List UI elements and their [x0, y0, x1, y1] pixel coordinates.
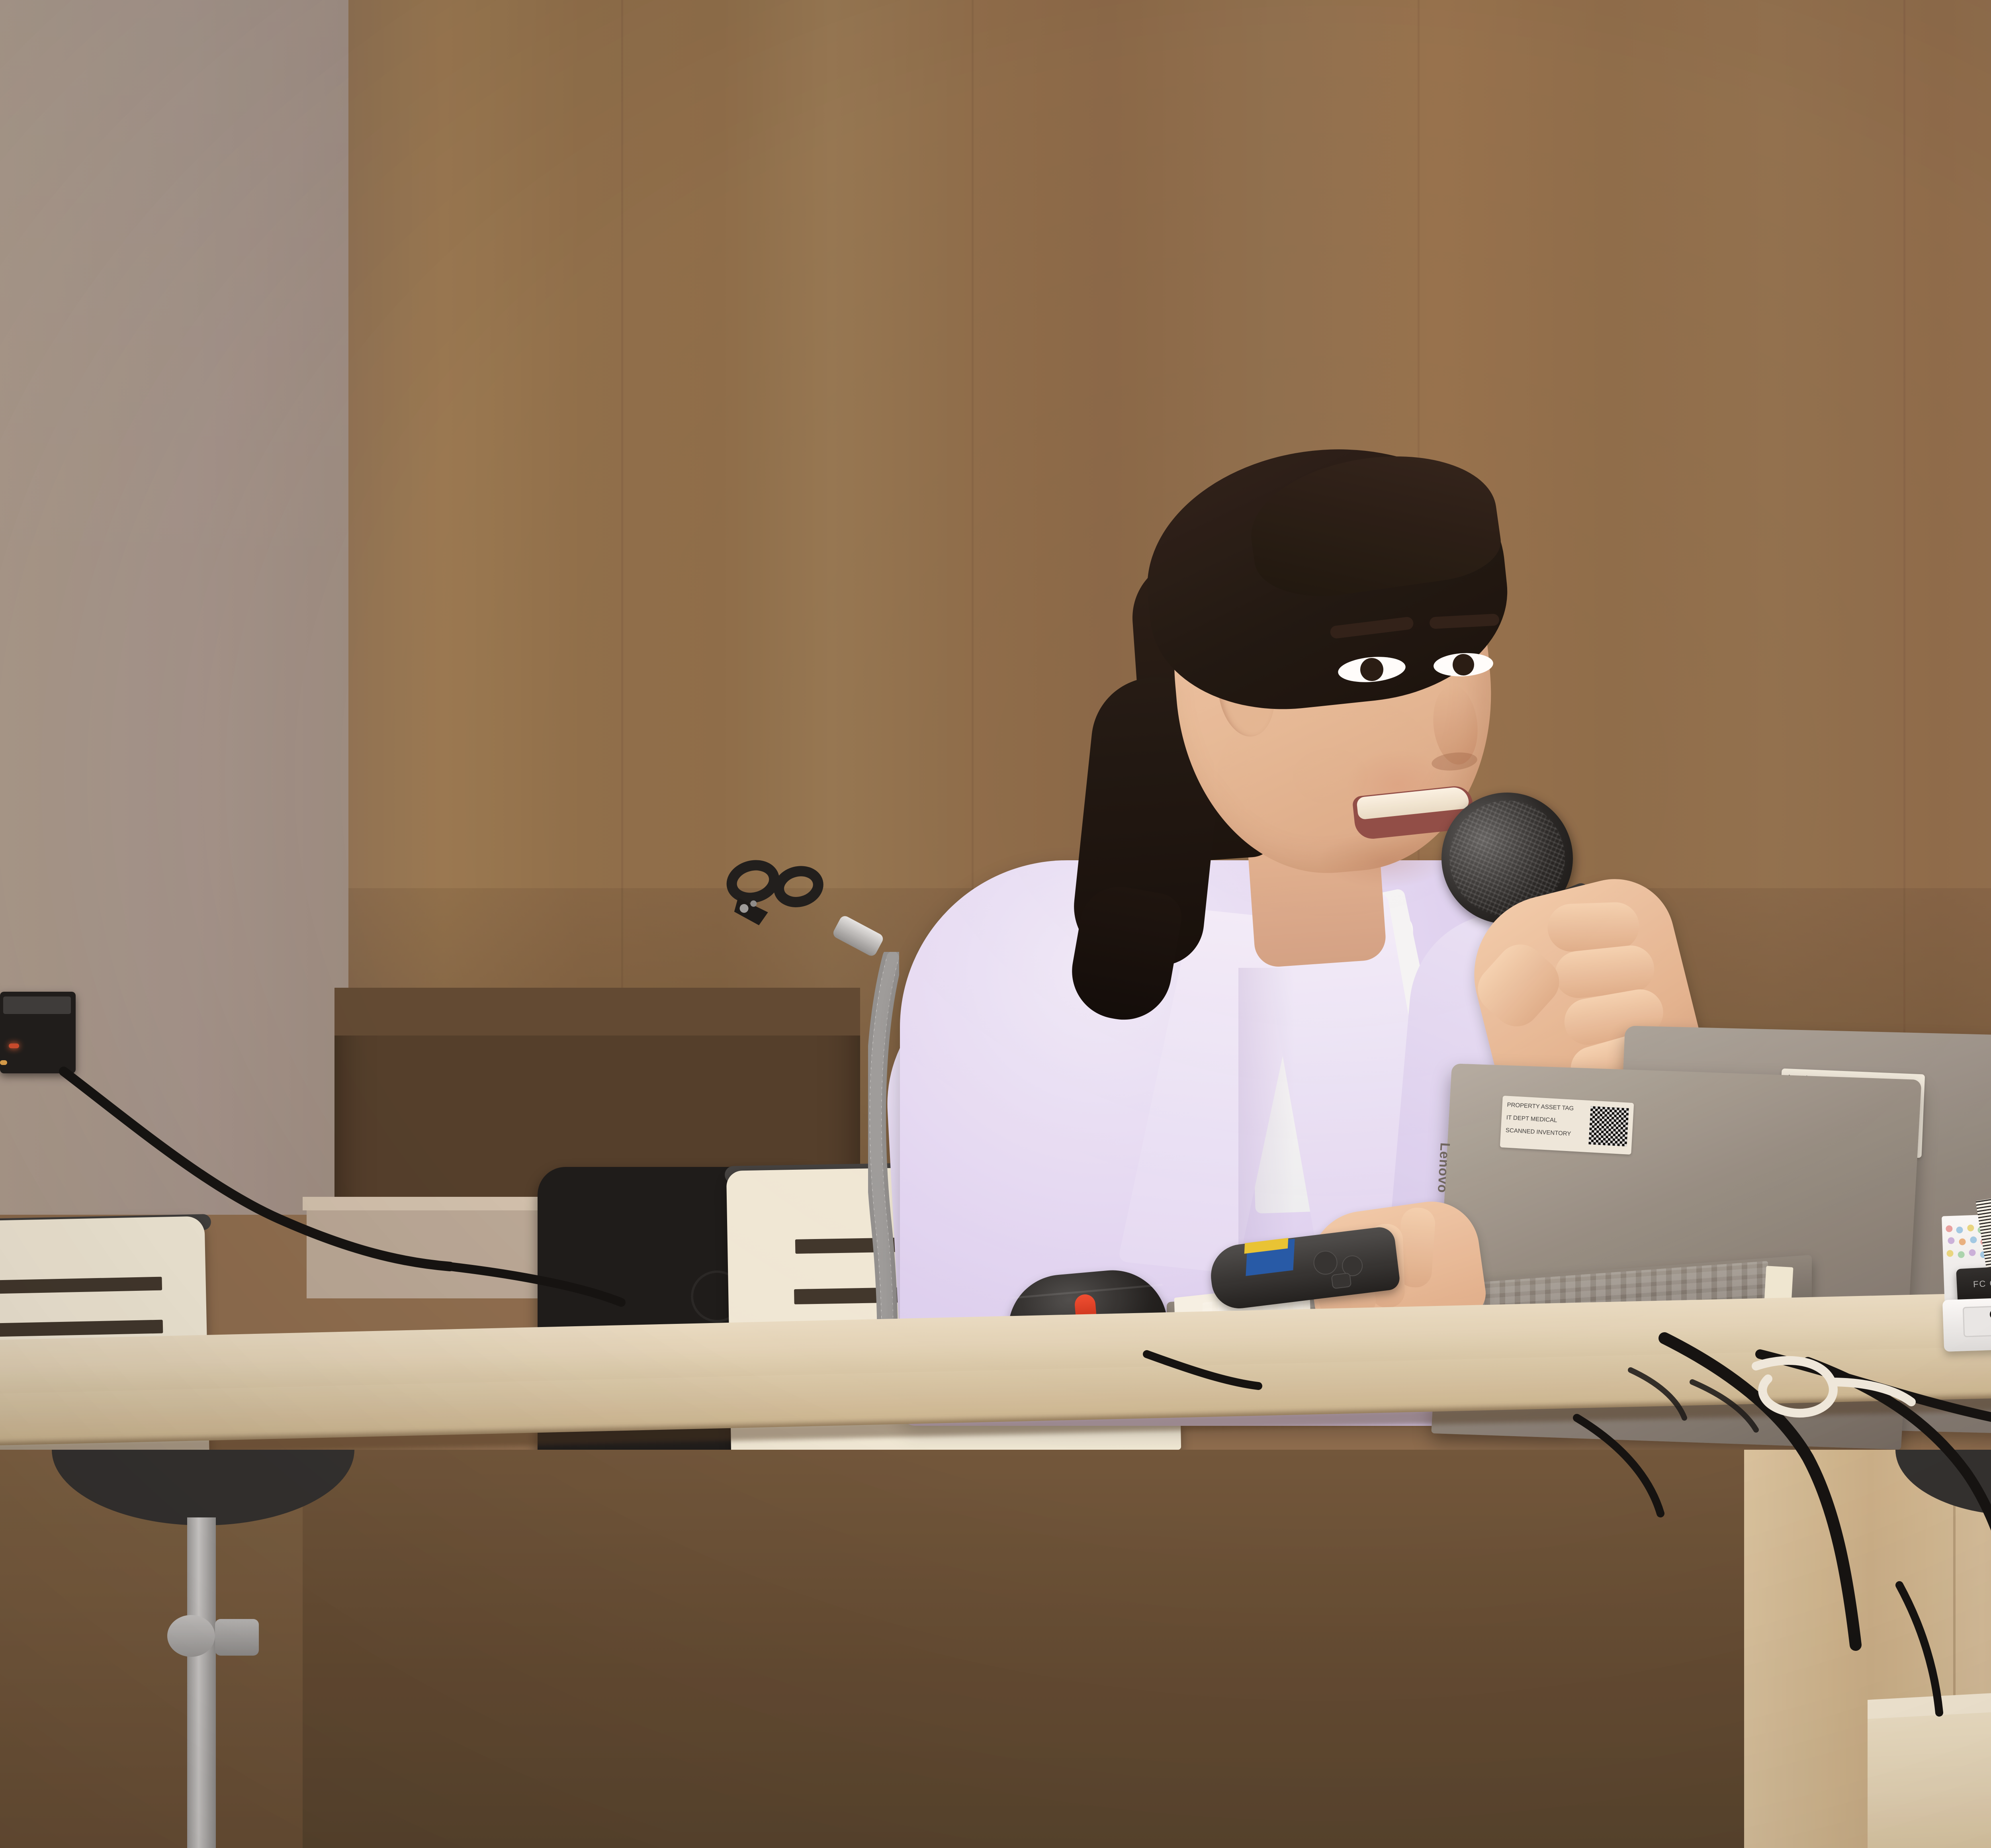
vignette — [0, 0, 1991, 1848]
photo-scene: ATW-C510 Asset Inventory Macbook Pro No.… — [0, 0, 1991, 1848]
